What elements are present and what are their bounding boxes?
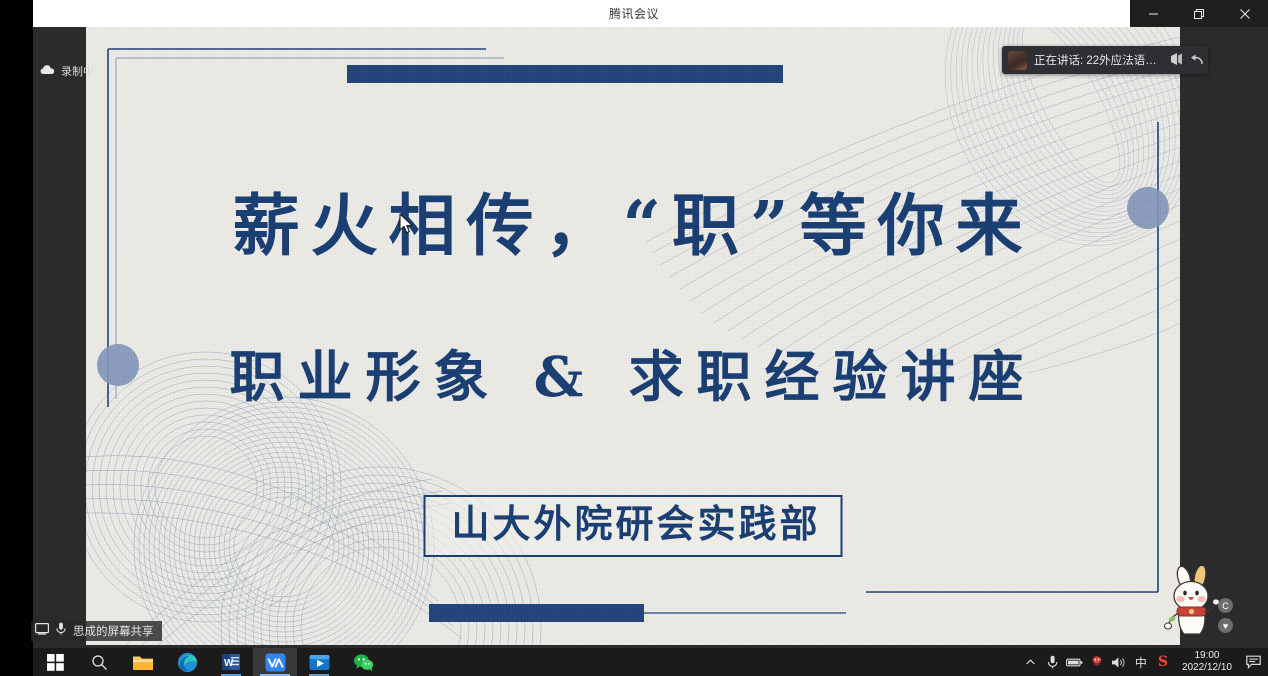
screen-share-owner-label: 思成的屏幕共享 [73,623,154,639]
participant-avatar [1008,51,1027,70]
edge-icon [177,652,198,673]
active-speaker-label: 正在讲话: 22外应法语与国... [1034,52,1162,68]
recording-label: 录制中 [61,63,94,79]
folder-icon [132,653,154,672]
file-explorer-button[interactable] [121,648,165,676]
chevron-up-icon[interactable] [1020,648,1042,676]
active-speaker-banner[interactable]: 正在讲话: 22外应法语与国... [1002,46,1208,74]
close-button[interactable] [1222,0,1268,27]
clock-date: 2022/12/10 [1182,662,1232,674]
screen-share-status-bar: 思成的屏幕共享 [31,621,162,641]
slide-text-layer: 薪火相传，“职”等你来 职业形象 & 求职经验讲座 山大外院研会实践部 [86,27,1180,645]
windows-taskbar: W [0,648,1268,676]
mascot-badge-top[interactable]: C [1218,598,1233,613]
slide-subtitle: 职业形象 & 求职经验讲座 [86,332,1180,412]
window-controls [1130,0,1268,27]
tencent-meeting-icon [265,653,286,672]
sogou-input-icon[interactable]: S [1152,648,1174,676]
slide-organization: 山大外院研会实践部 [451,504,820,544]
return-arrow-icon[interactable] [1190,53,1204,67]
sogou-rabbit-mascot[interactable] [1160,566,1226,643]
monitor-icon [35,622,49,640]
cloud-icon [40,62,55,80]
edge-button[interactable] [165,648,209,676]
window-title-bar: 腾讯会议 [0,0,1268,27]
slide-title: 薪火相传，“职”等你来 [86,172,1180,269]
sogou-label: S [1158,654,1168,670]
video-player-button[interactable] [297,648,341,676]
ime-indicator[interactable]: 中 [1130,648,1152,676]
clock-time: 19:00 [1194,650,1219,662]
restore-button[interactable] [1176,0,1222,27]
title-bar-left-filler [0,0,33,27]
tray-app-icon[interactable] [1086,648,1108,676]
svg-text:W: W [224,658,234,669]
word-button[interactable]: W [209,648,253,676]
screen: 腾讯会议 [0,0,1268,676]
clock[interactable]: 19:00 2022/12/10 [1174,648,1240,676]
search-icon [91,654,108,671]
search-button[interactable] [77,648,121,676]
volume-bars-icon[interactable] [1169,53,1183,67]
word-icon: W [221,652,241,672]
recording-indicator: 录制中 [40,62,94,80]
windows-logo-icon [47,654,64,671]
wechat-button[interactable] [341,648,385,676]
shared-screen-slide: 薪火相传，“职”等你来 职业形象 & 求职经验讲座 山大外院研会实践部 [86,27,1180,645]
window-title: 腾讯会议 [609,5,659,22]
microphone-icon [56,622,66,640]
wechat-icon [353,653,374,672]
speaker-icon[interactable] [1108,648,1130,676]
slide-organization-box: 山大外院研会实践部 [423,495,842,557]
start-button[interactable] [33,648,77,676]
video-player-icon [309,653,330,672]
mouse-cursor [399,213,414,240]
mascot-badge-bottom[interactable]: ♥ [1218,618,1233,633]
microphone-icon[interactable] [1042,648,1064,676]
mascot-action-badges[interactable]: C ♥ [1218,598,1233,638]
taskbar-left-filler [0,648,33,676]
minimize-button[interactable] [1130,0,1176,27]
battery-icon[interactable] [1064,648,1086,676]
tencent-meeting-button[interactable] [253,648,297,676]
system-tray: 中 S 19:00 2022/12/10 [1020,648,1268,676]
notification-icon[interactable] [1240,648,1266,676]
